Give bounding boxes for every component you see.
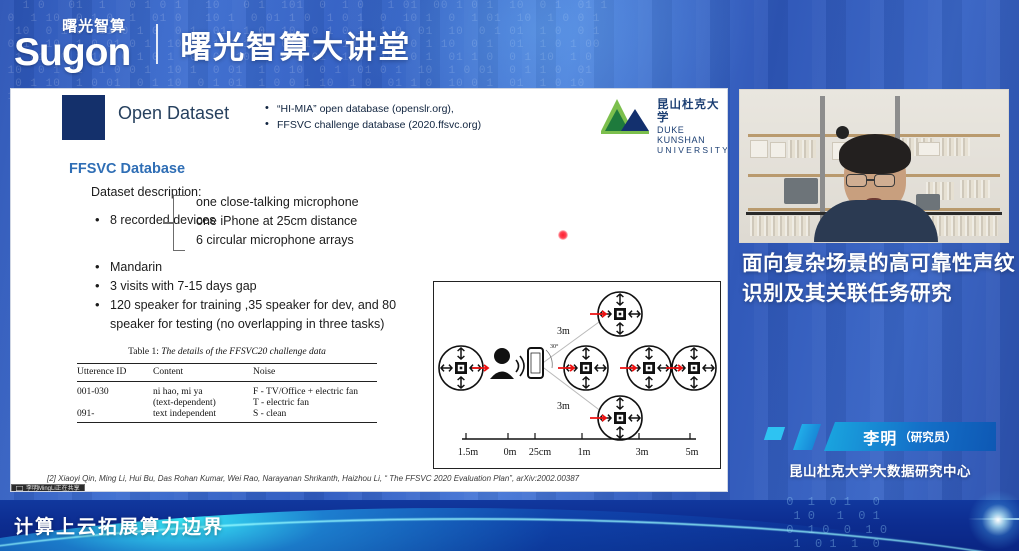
device-brace (173, 195, 185, 251)
cell: 091- (77, 409, 153, 423)
cell: T - electric fan (253, 398, 377, 409)
list-item: 6 circular microphone arrays (196, 231, 359, 250)
table-caption-label: Table 1: (128, 347, 159, 357)
list-item: “HI-MIA” open database (openslr.org), (263, 101, 481, 117)
monitor-prop (784, 178, 818, 204)
device-detail-list: one close-talking microphone one iPhone … (196, 193, 359, 250)
storage-box (918, 142, 940, 156)
books (960, 180, 990, 198)
cell: (text-dependent) (153, 398, 253, 409)
top-header-bar: 曙光智算 Sugon 曙光智算大讲堂 (0, 0, 1019, 88)
storage-box (750, 140, 768, 158)
share-badge-label: 李明MingLi正在共享 (26, 484, 80, 492)
svg-text:3m: 3m (557, 326, 570, 337)
university-name-cn: 昆山杜克大学 (657, 99, 728, 125)
column-header: Noise (253, 364, 377, 382)
app-window: 1 0 01 1 0 1 0 1 10 0 1 101 0 1 0 1 01 0… (0, 0, 1019, 551)
column-header: Content (153, 364, 253, 382)
speaker-name: 李明 (863, 425, 897, 449)
open-dataset-bullets: “HI-MIA” open database (openslr.org), FF… (263, 101, 481, 133)
cell: 001-030 (77, 382, 153, 399)
svg-text:0m: 0m (504, 447, 517, 458)
column-header: Utterence ID (77, 364, 153, 382)
ribbon-accent-small (764, 427, 785, 440)
sugon-logo: 曙光智算 Sugon (14, 15, 130, 74)
list-item: FFSVC challenge database (2020.ffsvc.org… (263, 117, 481, 133)
svg-text:1m: 1m (578, 447, 591, 458)
list-item: 3 visits with 7-15 days gap (93, 277, 396, 296)
header-title: 曙光智算大讲堂 (180, 22, 411, 67)
cell: text independent (153, 409, 253, 423)
list-item: one close-talking microphone (196, 193, 359, 212)
list-item: Mandarin (93, 258, 396, 277)
clock-icon (836, 126, 849, 139)
monitor-icon (16, 486, 23, 492)
table-header-row: Utterence ID Content Noise (77, 364, 377, 382)
microphone-layout-diagram: 30° 3m 3m 1.5m 0m 25cm (433, 281, 721, 469)
glasses-right-lens (874, 174, 895, 187)
list-item: 120 speaker for training ,35 speaker for… (93, 296, 396, 315)
logo-english-text: Sugon (14, 32, 130, 74)
speaker-hair (839, 134, 911, 174)
list-item: speaker for testing (no overlapping in t… (93, 315, 396, 334)
screen-share-badge: 李明MingLi正在共享 (11, 484, 85, 492)
cell: ni hao, mi ya (153, 382, 253, 399)
table-row: 091- text independent S - clean (77, 409, 377, 423)
ribbon-accent-large (793, 424, 821, 450)
light-flare (968, 490, 1019, 550)
table-row: 001-030 ni hao, mi ya F - TV/Office + el… (77, 382, 377, 399)
books (788, 140, 816, 158)
university-name-en-1: DUKE KUNSHAN (657, 125, 728, 145)
laser-pointer-dot (558, 230, 568, 240)
cell: S - clean (253, 409, 377, 423)
svg-text:3m: 3m (557, 401, 570, 412)
glasses-left-lens (846, 174, 867, 187)
ffsvc-table-block: Table 1: The details of the FFSVC20 chal… (77, 347, 377, 423)
shared-slide[interactable]: Open Dataset “HI-MIA” open database (ope… (10, 88, 728, 492)
footer-slogan: 计算上云拓展算力边界 (14, 512, 224, 539)
open-dataset-badge (62, 95, 105, 140)
university-name-en-2: UNIVERSITY (657, 145, 728, 155)
open-dataset-title: Open Dataset (118, 103, 229, 124)
ffsvc-table: Utterence ID Content Noise 001-030 ni ha… (77, 363, 377, 423)
speaker-torso (814, 200, 938, 242)
speaker-video-feed[interactable] (739, 89, 1009, 243)
glasses-bridge (867, 179, 874, 181)
svg-text:25cm: 25cm (529, 447, 551, 458)
duke-kunshan-logo: 昆山杜克大学 DUKE KUNSHAN UNIVERSITY (599, 97, 725, 143)
svg-text:30°: 30° (550, 343, 559, 350)
speaker-name-ribbon: 李明 （研究员） (824, 422, 996, 451)
list-item: one iPhone at 25cm distance (196, 212, 359, 231)
books (750, 216, 810, 236)
books (930, 216, 998, 236)
svg-text:1.5m: 1.5m (458, 447, 479, 458)
table-caption: Table 1: The details of the FFSVC20 chal… (77, 347, 377, 357)
svg-text:3m: 3m (636, 447, 649, 458)
cell (77, 398, 153, 409)
speaker-affiliation: 昆山杜克大学大数据研究中心 (742, 460, 1018, 480)
mountain-icon (599, 97, 653, 139)
header-divider (156, 24, 158, 64)
citation-text: [2] Xiaoyi Qin, Ming Li, Hui Bu, Das Roh… (47, 474, 579, 483)
talk-title: 面向复杂场景的高可靠性声纹识别及其关联任务研究 (742, 249, 1018, 309)
table-row: (text-dependent) T - electric fan (77, 398, 377, 409)
table-caption-text: The details of the FFSVC20 challenge dat… (161, 347, 326, 357)
diagram-svg: 30° 3m 3m 1.5m 0m 25cm (434, 282, 720, 468)
books (940, 138, 970, 156)
storage-box (770, 142, 786, 158)
speaker-role: （研究员） (899, 429, 957, 445)
svg-text:5m: 5m (686, 447, 699, 458)
cell: F - TV/Office + electric fan (253, 382, 377, 399)
duke-kunshan-text: 昆山杜克大学 DUKE KUNSHAN UNIVERSITY (657, 99, 728, 155)
section-title: FFSVC Database (69, 161, 185, 177)
